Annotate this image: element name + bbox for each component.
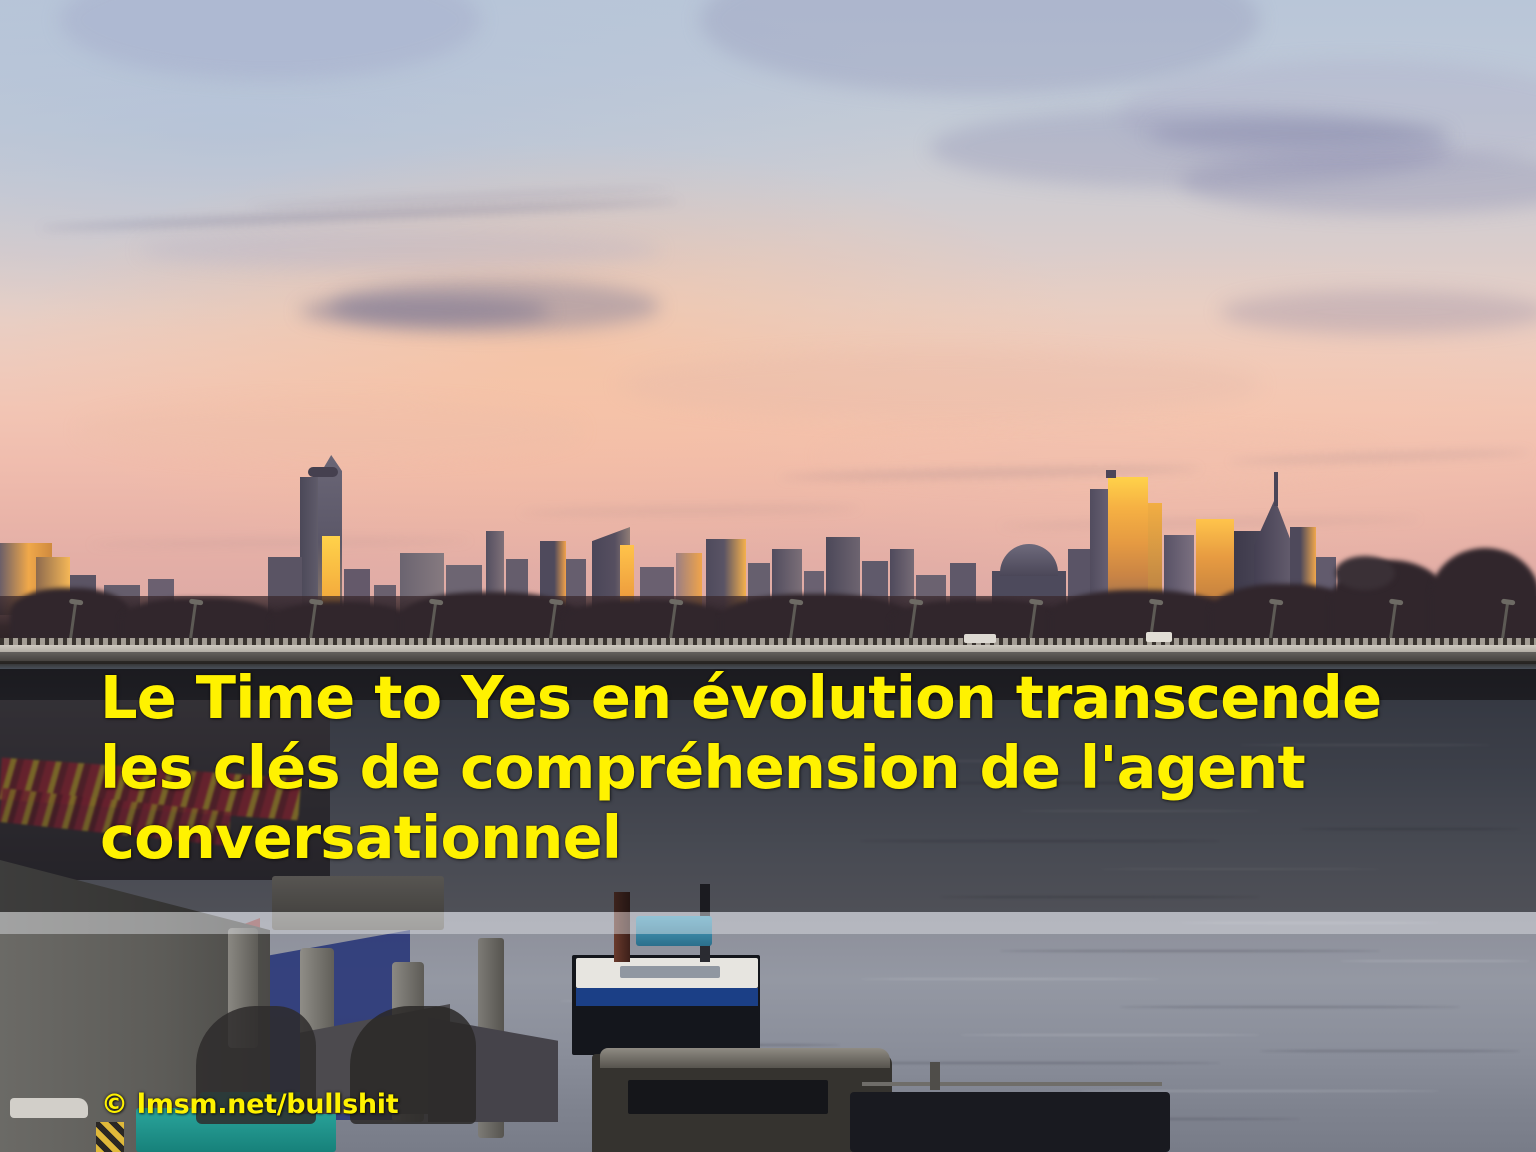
credit-watermark: © lmsm.net/bullshit: [101, 1089, 398, 1120]
skyline-la-defense: [0, 0, 1536, 660]
bridge-vehicle: [1146, 632, 1172, 642]
barge-long-window: [628, 1080, 828, 1114]
lower-light-band: [0, 912, 1536, 934]
barge-right-dark: [850, 1092, 1170, 1152]
barge-cabin-blue: [576, 988, 758, 1006]
headline-text: Le Time to Yes en évolution transcende l…: [100, 663, 1390, 873]
barge-right-rail: [862, 1082, 1162, 1086]
bridge-vehicle: [964, 634, 996, 643]
barge-right-post: [930, 1062, 940, 1090]
hazard-marker: [96, 1122, 124, 1152]
barge-long-roof: [600, 1048, 890, 1068]
screenshot-root: Le Time to Yes en évolution transcende l…: [0, 0, 1536, 1152]
white-dinghy: [10, 1098, 88, 1118]
barge-name-plate: [620, 966, 720, 978]
